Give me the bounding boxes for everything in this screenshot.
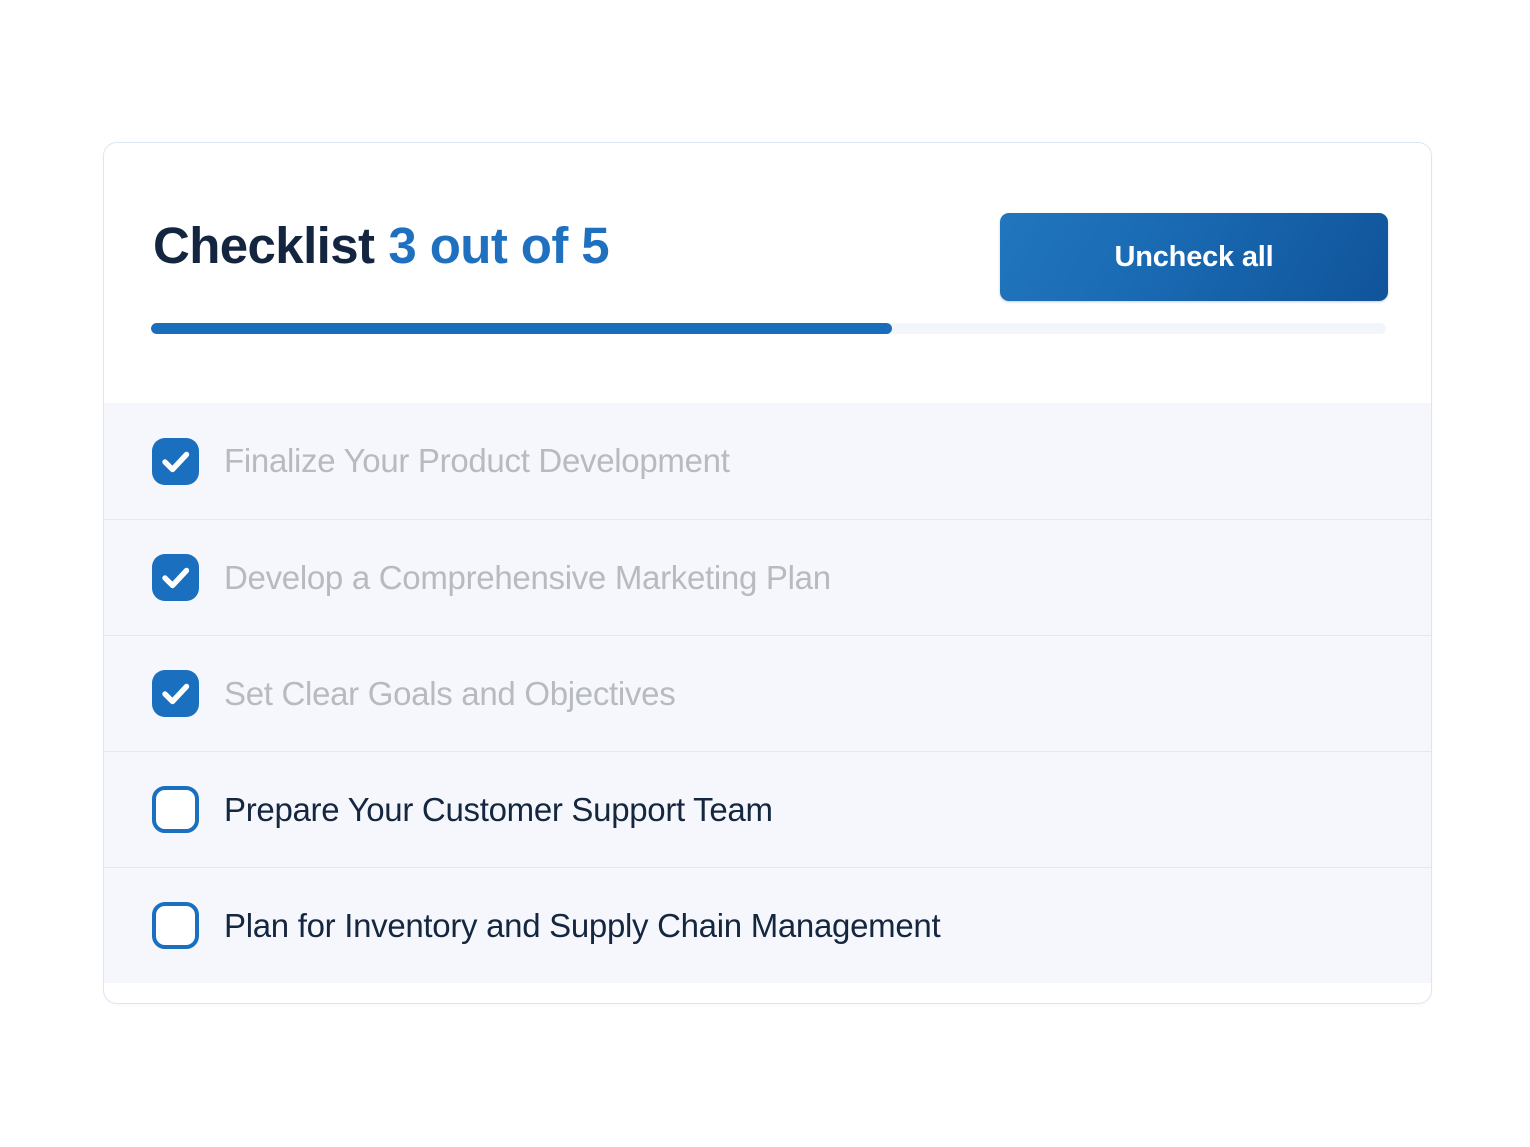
checklist-card: Checklist 3 out of 5 Uncheck all Finaliz… xyxy=(103,142,1432,1004)
check-icon[interactable] xyxy=(152,670,199,717)
page-root: Checklist 3 out of 5 Uncheck all Finaliz… xyxy=(0,0,1530,1147)
checklist-item-label: Plan for Inventory and Supply Chain Mana… xyxy=(224,907,940,945)
progress-bar-fill xyxy=(151,323,892,334)
checklist-item-label: Prepare Your Customer Support Team xyxy=(224,791,773,829)
empty-checkbox-icon[interactable] xyxy=(152,786,199,833)
checklist-progress-count: 3 out of 5 xyxy=(388,216,609,275)
check-icon[interactable] xyxy=(152,438,199,485)
checklist-title-text: Checklist xyxy=(153,216,374,275)
checklist-row[interactable]: Finalize Your Product Development xyxy=(104,403,1431,519)
empty-checkbox-icon[interactable] xyxy=(152,902,199,949)
check-icon[interactable] xyxy=(152,554,199,601)
page-title: Checklist 3 out of 5 xyxy=(153,216,609,275)
checklist-item-label: Finalize Your Product Development xyxy=(224,442,730,480)
checklist-row[interactable]: Prepare Your Customer Support Team xyxy=(104,751,1431,867)
checklist-items-list: Finalize Your Product DevelopmentDevelop… xyxy=(104,403,1431,983)
checklist-row[interactable]: Plan for Inventory and Supply Chain Mana… xyxy=(104,867,1431,983)
checklist-header: Checklist 3 out of 5 Uncheck all xyxy=(104,143,1431,403)
checklist-item-label: Develop a Comprehensive Marketing Plan xyxy=(224,559,831,597)
uncheck-all-button[interactable]: Uncheck all xyxy=(1000,213,1388,301)
progress-bar-track xyxy=(151,323,1386,334)
checklist-item-label: Set Clear Goals and Objectives xyxy=(224,675,675,713)
checklist-row[interactable]: Set Clear Goals and Objectives xyxy=(104,635,1431,751)
checklist-row[interactable]: Develop a Comprehensive Marketing Plan xyxy=(104,519,1431,635)
